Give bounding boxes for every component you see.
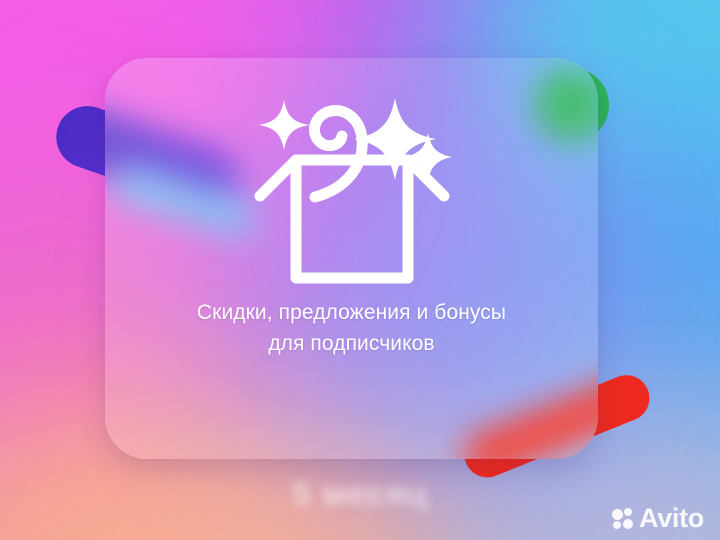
avito-logo-icon	[612, 508, 633, 529]
avito-brand-text: Avito	[639, 505, 704, 532]
card-content: Скидки, предложения и бонусы для подписч…	[105, 58, 598, 459]
avito-watermark: Avito	[612, 505, 704, 532]
caption-line-2: для подписчиков	[132, 328, 572, 359]
glass-card: Скидки, предложения и бонусы для подписч…	[105, 58, 598, 459]
caption-line-1: Скидки, предложения и бонусы	[132, 297, 572, 328]
promo-image-canvas: 5 месяц	[0, 0, 720, 540]
gift-box-sparkles-icon	[252, 80, 452, 285]
card-caption: Скидки, предложения и бонусы для подписч…	[132, 297, 572, 359]
